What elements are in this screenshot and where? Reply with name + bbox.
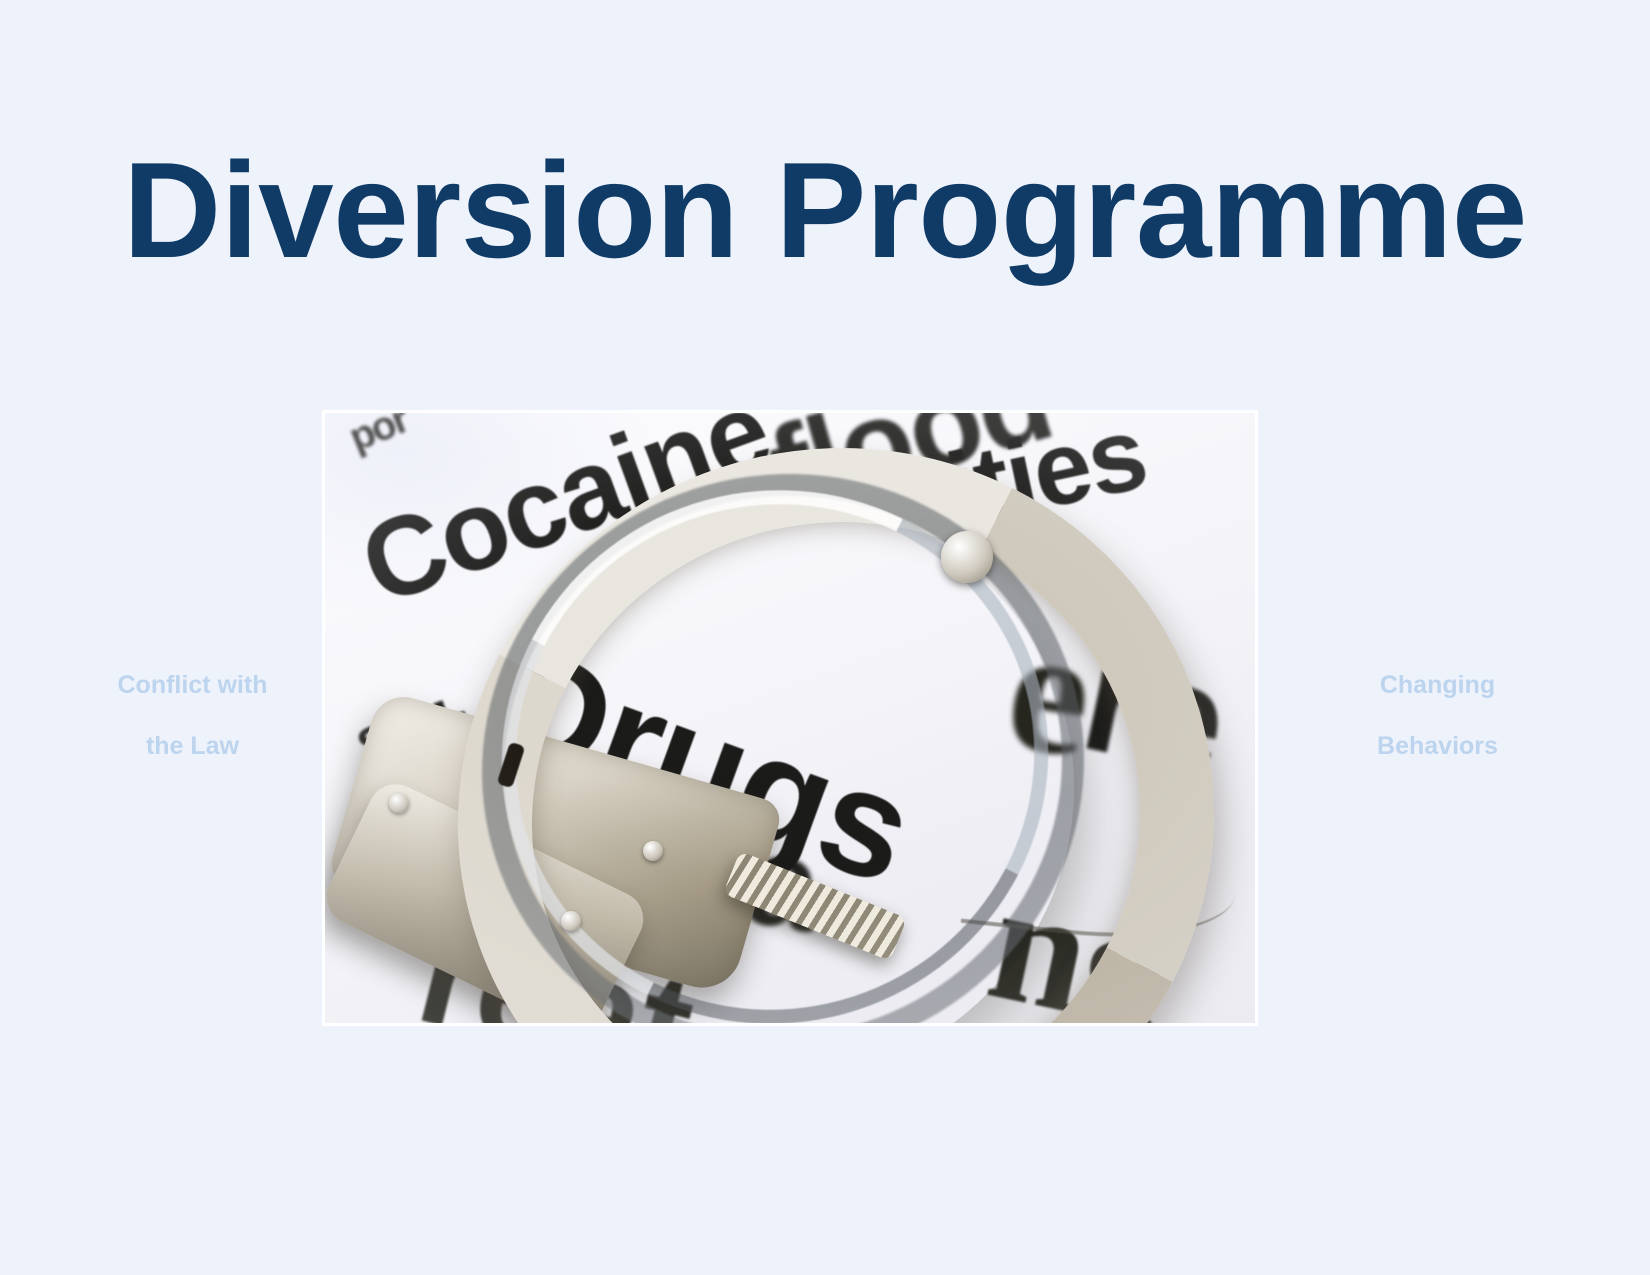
caption-left-line1: Conflict with [60,655,325,716]
handcuffs-newspaper-photo: por Cocaine flood ities + s e cca re Dru… [325,413,1255,1023]
handcuff-screw [643,841,663,861]
caption-right: Changing Behaviors [1305,655,1570,778]
handcuff-screw [561,911,581,931]
handcuff-rivet [941,531,993,583]
handcuff-screw [389,793,409,813]
presentation-slide: Diversion Programme Conflict with the La… [0,0,1650,1275]
caption-left-line2: the Law [60,716,325,777]
caption-right-line1: Changing [1305,655,1570,716]
caption-right-line2: Behaviors [1305,716,1570,777]
page-title: Diversion Programme [0,139,1650,282]
photo-frame: por Cocaine flood ities + s e cca re Dru… [322,410,1258,1026]
caption-left: Conflict with the Law [60,655,325,778]
